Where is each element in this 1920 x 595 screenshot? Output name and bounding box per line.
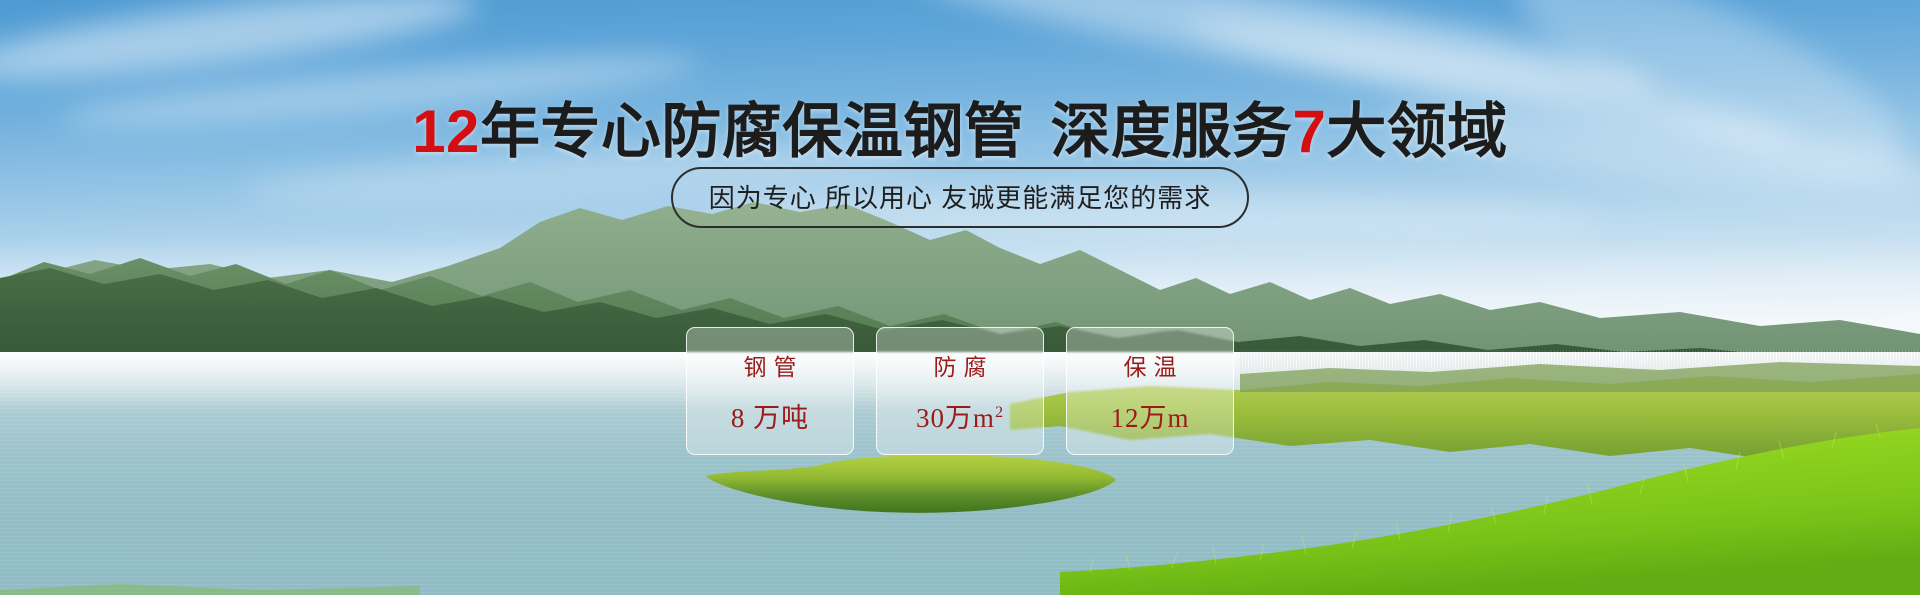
headline-tail-suffix: 大领域 [1326,98,1508,165]
stat-card-insulation[interactable]: 保温 12万m [1066,327,1234,455]
headline-fields-number: 7 [1292,98,1326,165]
headline-lead-text: 年专心防腐保温钢管 [480,98,1025,165]
headline-years-number: 12 [412,98,480,165]
stat-cards: 钢管 8 万吨 防腐 30万m2 保温 12万m [0,327,1920,455]
lake-island [648,452,1118,538]
stat-card-label: 防腐 [927,348,994,382]
stat-card-unit-exponent: 2 [995,403,1004,421]
stat-card-value-text: 8 万吨 [731,403,809,433]
stat-card-value: 8 万吨 [731,396,809,435]
stat-card-value-text: 12万m [1110,403,1189,433]
page-title: 12年专心防腐保温钢管深度服务7大领域 [0,83,1920,170]
headline-tail-text: 深度服务 [1050,98,1292,165]
left-shore-grass [0,560,420,595]
stat-card-label: 保温 [1117,348,1184,382]
stat-card-value: 30万m2 [916,396,1004,435]
subtitle-container: 因为专心 所以用心 友诚更能满足您的需求 [0,167,1920,228]
stat-card-value-text: 30万m [916,403,995,433]
stat-card-steel-pipe[interactable]: 钢管 8 万吨 [686,327,854,455]
hero-banner: 12年专心防腐保温钢管深度服务7大领域 因为专心 所以用心 友诚更能满足您的需求… [0,0,1920,595]
stat-card-label: 钢管 [737,348,804,382]
stat-card-value: 12万m [1110,396,1189,435]
subtitle-pill: 因为专心 所以用心 友诚更能满足您的需求 [671,167,1249,228]
stat-card-anticorrosion[interactable]: 防腐 30万m2 [876,327,1044,455]
